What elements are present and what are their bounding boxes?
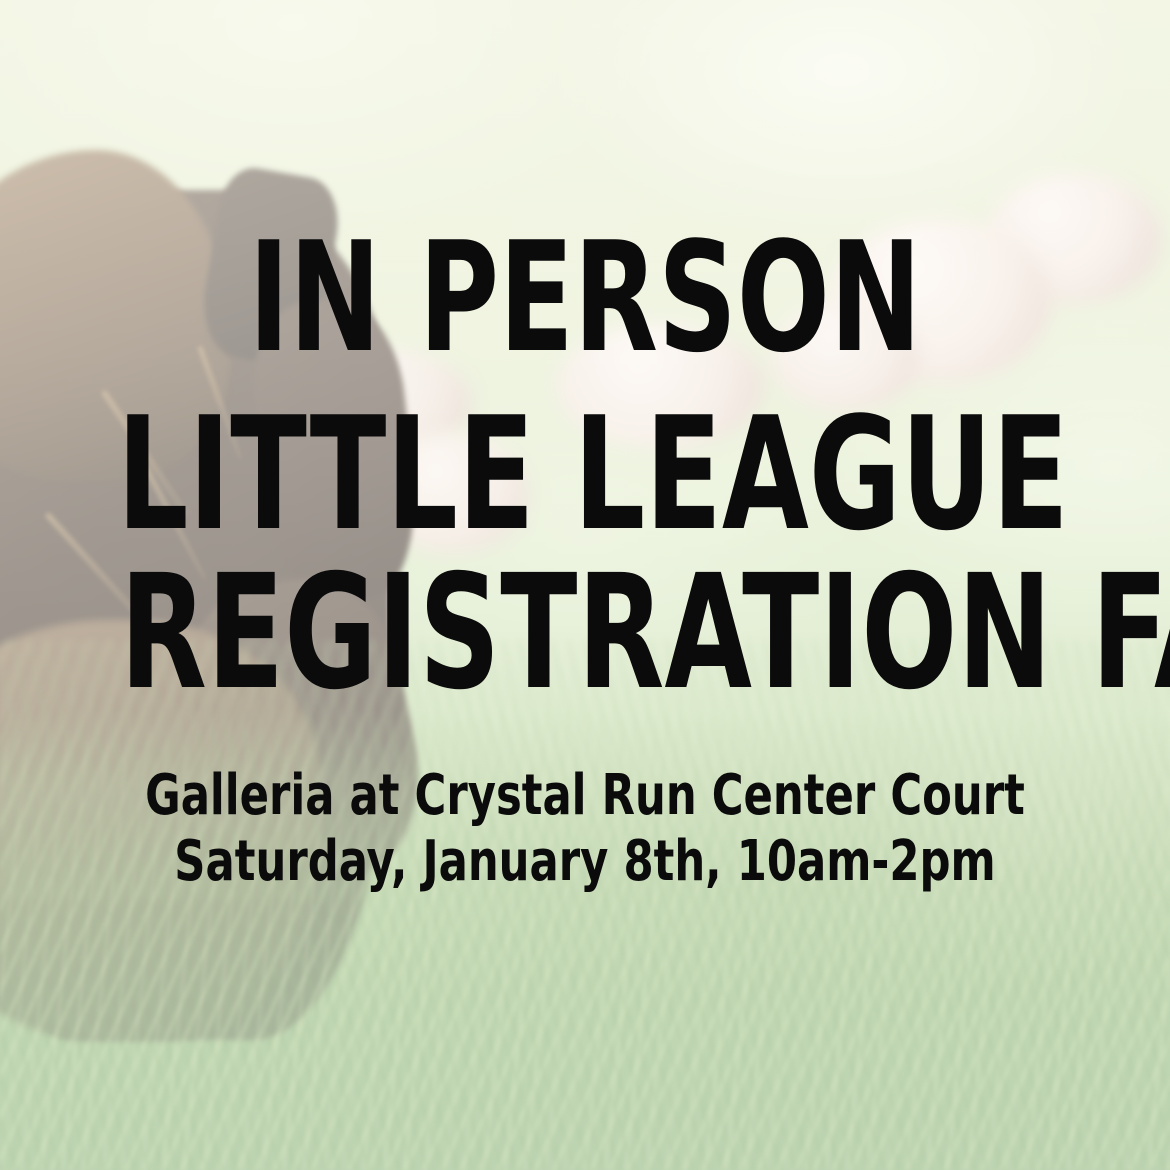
- headline-line-little-league: LITTLE LEAGUE: [117, 396, 1053, 552]
- event-datetime: Saturday, January 8th, 10am-2pm: [82, 834, 1088, 890]
- poster-canvas: IN PERSON LITTLE LEAGUE REGISTRATION FAI…: [0, 0, 1170, 1170]
- poster-text-content: IN PERSON LITTLE LEAGUE REGISTRATION FAI…: [0, 0, 1170, 1170]
- headline-line-registration-fair: REGISTRATION FAIR: [120, 554, 1050, 712]
- event-venue: Galleria at Crystal Run Center Court: [82, 768, 1088, 824]
- headline-line-in-person: IN PERSON: [117, 222, 1053, 374]
